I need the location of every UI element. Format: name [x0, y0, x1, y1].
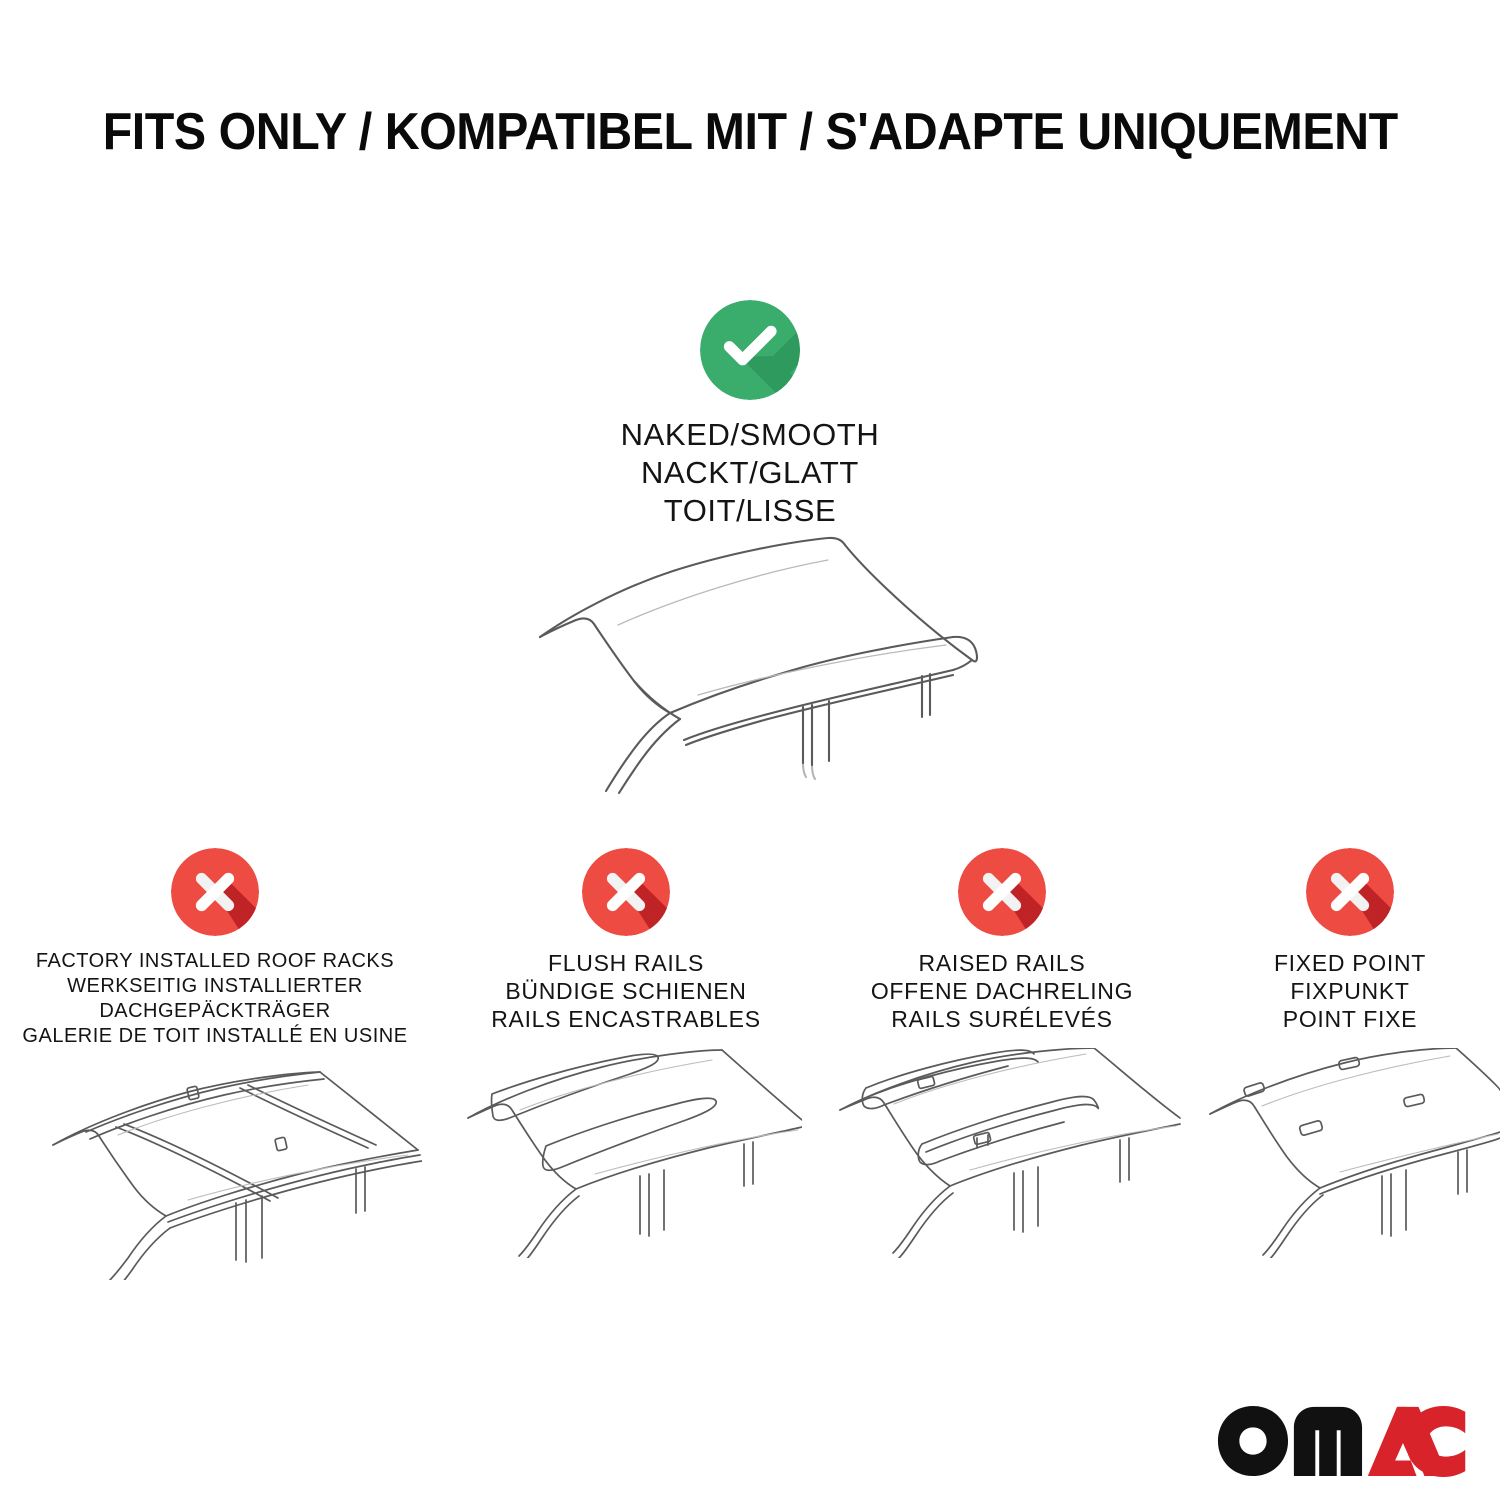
logo-letter-o: [1218, 1406, 1288, 1476]
cross-circle-icon: [171, 848, 259, 936]
cross-circle-icon: [1306, 848, 1394, 936]
compatible-caption-en: NAKED/SMOOTH: [0, 416, 1500, 454]
caption-line-en: RAISED RAILS: [822, 949, 1182, 977]
check-circle-icon: [700, 300, 800, 400]
caption-line-en: FACTORY INSTALLED ROOF RACKS: [8, 949, 422, 974]
car-roof-fixed-point-illustration: [1200, 1048, 1500, 1258]
incompatible-caption-factory-racks: FACTORY INSTALLED ROOF RACKS WERKSEITIG …: [8, 949, 422, 1049]
incompatible-section: FACTORY INSTALLED ROOF RACKS WERKSEITIG …: [0, 848, 1500, 1408]
caption-line-fr: RAILS ENCASTRABLES: [450, 1005, 802, 1033]
omac-logo-mark: [1216, 1404, 1467, 1478]
incompatible-caption-raised-rails: RAISED RAILS OFFENE DACHRELING RAILS SUR…: [822, 949, 1182, 1033]
caption-line-fr: GALERIE DE TOIT INSTALLÉ EN USINE: [8, 1024, 422, 1049]
caption-line-en: FLUSH RAILS: [450, 949, 802, 977]
car-roof-flush-rails-illustration: [450, 1048, 802, 1258]
car-roof-raised-rails-illustration: [822, 1048, 1182, 1258]
caption-line-de: BÜNDIGE SCHIENEN: [450, 977, 802, 1005]
caption-line-fr: POINT FIXE: [1200, 1005, 1500, 1033]
compatible-caption-de: NACKT/GLATT: [0, 454, 1500, 492]
caption-line-fr: RAILS SURÉLEVÉS: [822, 1005, 1182, 1033]
incompatible-caption-fixed-point: FIXED POINT FIXPUNKT POINT FIXE: [1200, 949, 1500, 1033]
caption-line-de: OFFENE DACHRELING: [822, 977, 1182, 1005]
incompatible-item-raised-rails: RAISED RAILS OFFENE DACHRELING RAILS SUR…: [822, 848, 1182, 1033]
compatible-caption: NAKED/SMOOTH NACKT/GLATT TOIT/LISSE: [0, 416, 1500, 530]
compatible-section: NAKED/SMOOTH NACKT/GLATT TOIT/LISSE: [0, 300, 1500, 530]
page-title-text: FITS ONLY / KOMPATIBEL MIT / S'ADAPTE UN…: [103, 103, 1398, 161]
incompatible-item-fixed-point: FIXED POINT FIXPUNKT POINT FIXE: [1200, 848, 1500, 1033]
caption-line-en: FIXED POINT: [1200, 949, 1500, 977]
caption-line-de1: WERKSEITIG INSTALLIERTER: [8, 974, 422, 999]
incompatible-item-factory-racks: FACTORY INSTALLED ROOF RACKS WERKSEITIG …: [8, 848, 422, 1049]
cross-circle-icon: [958, 848, 1046, 936]
incompatible-item-flush-rails: FLUSH RAILS BÜNDIGE SCHIENEN RAILS ENCAS…: [450, 848, 802, 1033]
caption-line-de: FIXPUNKT: [1200, 977, 1500, 1005]
caption-line-de2: DACHGEPÄCKTRÄGER: [8, 999, 422, 1024]
logo-letter-m: [1294, 1407, 1362, 1476]
omac-logo: [1216, 1404, 1467, 1478]
car-roof-factory-racks-illustration: [8, 1070, 422, 1280]
page-title: FITS ONLY / KOMPATIBEL MIT / S'ADAPTE UN…: [0, 103, 1500, 161]
incompatible-caption-flush-rails: FLUSH RAILS BÜNDIGE SCHIENEN RAILS ENCAS…: [450, 949, 802, 1033]
car-roof-naked-smooth-illustration: [498, 525, 1028, 795]
cross-circle-icon: [582, 848, 670, 936]
